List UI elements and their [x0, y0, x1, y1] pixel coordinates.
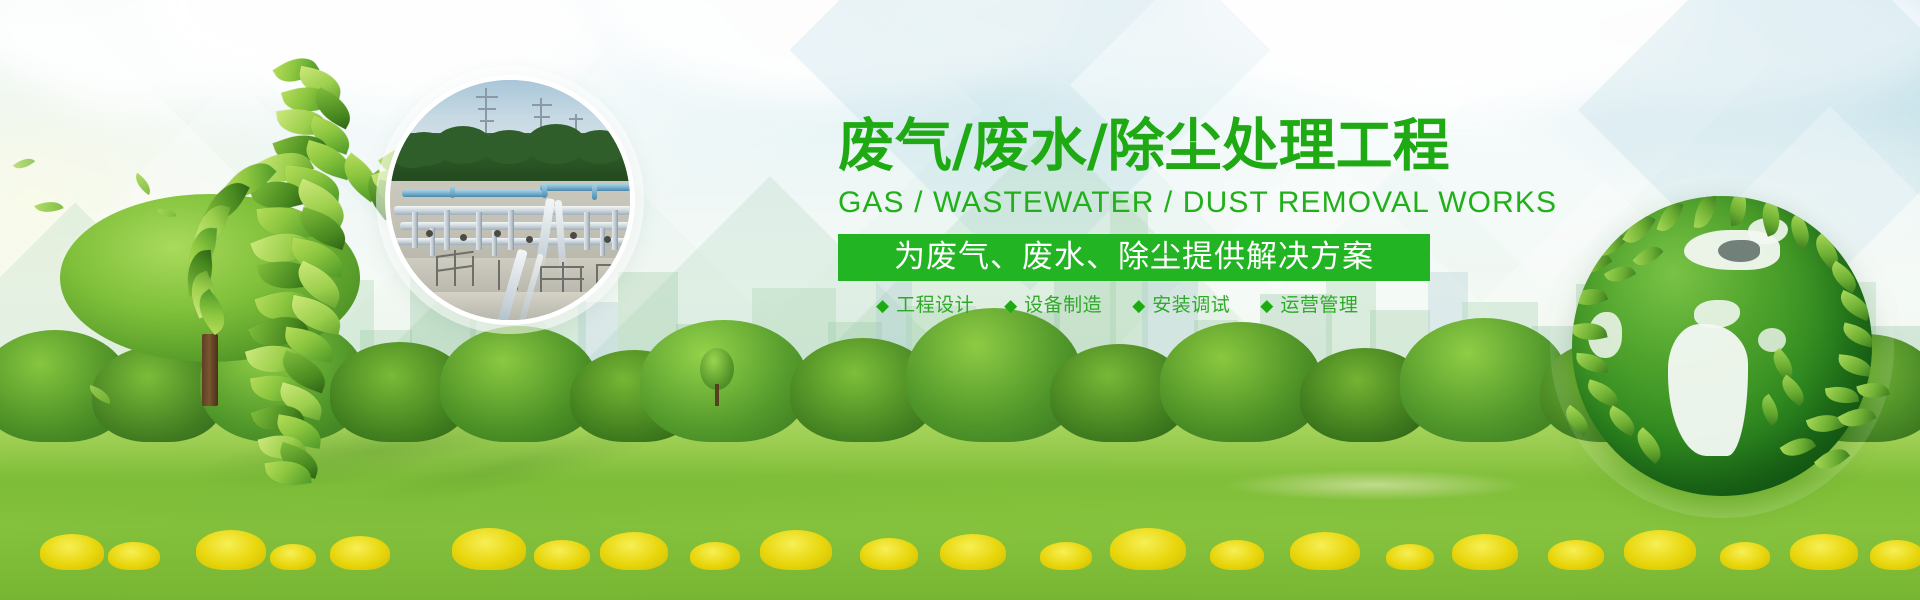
- feature-label: 工程设计: [896, 296, 974, 315]
- diamond-bullet-icon: ◆: [1132, 297, 1145, 314]
- page-subtitle: GAS / WASTEWATER / DUST REMOVAL WORKS: [838, 188, 1458, 218]
- diamond-bullet-icon: ◆: [876, 297, 889, 314]
- leaf-man-figure: [148, 56, 418, 480]
- circular-photo-inset: [385, 75, 635, 325]
- feature-label: 安装调试: [1152, 296, 1230, 315]
- eco-engineering-banner: 废气/废水/除尘处理工程 GAS / WASTEWATER / DUST REM…: [0, 0, 1920, 600]
- feature-item-equipment-manufacturing: ◆ 设备制造: [1004, 296, 1102, 315]
- feature-item-engineering-design: ◆ 工程设计: [876, 296, 974, 315]
- feature-item-operations-management: ◆ 运营管理: [1260, 296, 1358, 315]
- copy-block: 废气/废水/除尘处理工程 GAS / WASTEWATER / DUST REM…: [838, 118, 1458, 315]
- page-title: 废气/废水/除尘处理工程: [838, 118, 1458, 175]
- small-tree: [700, 348, 734, 404]
- diamond-bullet-icon: ◆: [1260, 297, 1273, 314]
- diamond-bullet-icon: ◆: [1004, 297, 1017, 314]
- wastewater-plant-photo: [390, 80, 630, 320]
- green-earth-globe: [1572, 196, 1872, 496]
- tagline-bar: 为废气、废水、除尘提供解决方案: [838, 234, 1430, 281]
- tagline-text: 为废气、废水、除尘提供解决方案: [894, 242, 1374, 273]
- feature-label: 设备制造: [1024, 296, 1102, 315]
- feature-item-installation-commissioning: ◆ 安装调试: [1132, 296, 1230, 315]
- feature-list: ◆ 工程设计 ◆ 设备制造 ◆ 安装调试 ◆ 运营管理: [838, 296, 1458, 315]
- feature-label: 运营管理: [1280, 296, 1358, 315]
